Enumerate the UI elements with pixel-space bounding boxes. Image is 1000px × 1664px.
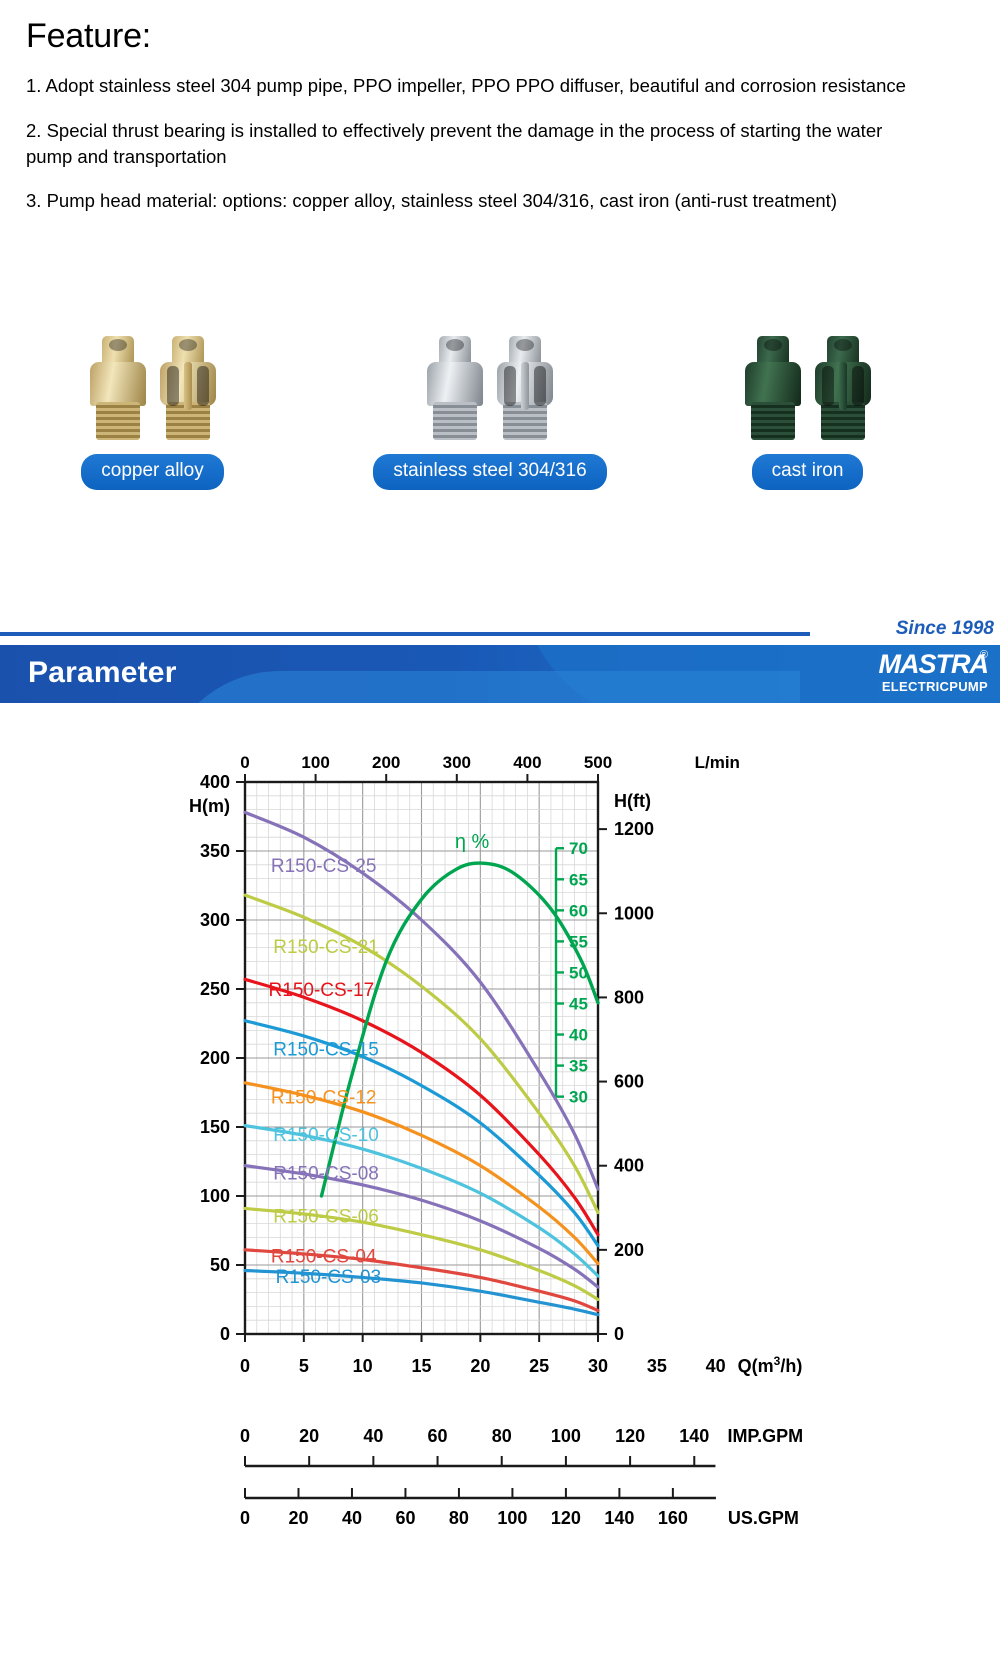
tick-label-imp-gpm: 120 — [615, 1426, 645, 1446]
since-divider: Since 1998 — [0, 618, 1000, 640]
page-root: Feature: 1. Adopt stainless steel 304 pu… — [0, 0, 1000, 1664]
tick-label-us-gpm: 120 — [551, 1508, 581, 1528]
copper-alloy-images — [45, 330, 260, 440]
axis-label-lmin: L/min — [695, 753, 740, 772]
chart-svg: 0100200300400500L/min0501001502002503003… — [0, 712, 1000, 1662]
efficiency-axis: 303540455055606570 — [556, 839, 588, 1106]
tick-label-q: 0 — [240, 1356, 250, 1376]
divider-line — [0, 632, 810, 636]
tick-label-imp-gpm: 40 — [363, 1426, 383, 1446]
tick-label-us-gpm: 140 — [604, 1508, 634, 1528]
tick-label-efficiency: 30 — [569, 1088, 588, 1107]
cast-iron-images — [700, 330, 915, 440]
axis-label-head-m: H(m) — [189, 796, 230, 816]
tick-label-head-m: 350 — [200, 841, 230, 861]
material-gallery: copper alloy stainless steel 304/316 — [0, 330, 1000, 520]
tick-label-head-m: 200 — [200, 1048, 230, 1068]
feature-section: Feature: 1. Adopt stainless steel 304 pu… — [0, 0, 1000, 214]
section-title-parameter: Parameter — [28, 656, 177, 690]
tick-label-head-m: 100 — [200, 1186, 230, 1206]
tick-label-head-ft: 800 — [614, 987, 644, 1007]
registered-trademark-icon: ® — [980, 649, 988, 661]
tick-label-efficiency: 40 — [569, 1026, 588, 1045]
tick-label-lmin: 500 — [584, 753, 612, 772]
pump-head-image-steel-solid — [427, 336, 483, 440]
tick-label-head-ft: 1200 — [614, 819, 654, 839]
parameter-header-band: Parameter ® MASTRA ELECTRICPUMP — [0, 645, 1000, 703]
series-label-r150-cs-12: R150-CS-12 — [271, 1088, 377, 1109]
feature-item-2: 2. Special thrust bearing is installed t… — [26, 118, 931, 171]
stainless-steel-images — [345, 330, 635, 440]
tick-label-us-gpm: 60 — [395, 1508, 415, 1528]
axis-label-us-gpm: US.GPM — [728, 1508, 799, 1528]
page-title: Feature: — [26, 18, 974, 55]
tick-label-q: 25 — [529, 1356, 549, 1376]
tick-label-q: 20 — [470, 1356, 490, 1376]
feature-item-1: 1. Adopt stainless steel 304 pump pipe, … — [26, 73, 931, 99]
tick-label-imp-gpm: 20 — [299, 1426, 319, 1446]
tick-label-head-m: 50 — [210, 1255, 230, 1275]
series-label-r150-cs-21: R150-CS-21 — [273, 937, 379, 958]
superscript-3: 3 — [774, 1354, 781, 1368]
tick-label-imp-gpm: 100 — [551, 1426, 581, 1446]
tick-label-us-gpm: 80 — [449, 1508, 469, 1528]
tick-label-q: 35 — [647, 1356, 667, 1376]
efficiency-curve-label: η % — [455, 831, 490, 853]
since-label: Since 1998 — [896, 618, 994, 640]
series-label-r150-cs-15: R150-CS-15 — [273, 1039, 379, 1060]
material-group-cast-iron: cast iron — [700, 330, 915, 490]
tick-label-head-m: 400 — [200, 772, 230, 792]
pump-head-image-brass-cage — [160, 336, 216, 440]
axis-label-head-ft: H(ft) — [614, 791, 651, 811]
tick-label-lmin: 100 — [301, 753, 329, 772]
pump-head-image-brass-solid — [90, 336, 146, 440]
series-label-r150-cs-04: R150-CS-04 — [271, 1246, 377, 1267]
logo-tagline: ELECTRICPUMP — [788, 680, 988, 693]
pump-head-image-iron-cage — [815, 336, 871, 440]
tick-label-us-gpm: 100 — [497, 1508, 527, 1528]
tick-label-q: 15 — [411, 1356, 431, 1376]
tick-label-lmin: 300 — [443, 753, 471, 772]
tick-label-q: 40 — [706, 1356, 726, 1376]
tick-label-head-m: 0 — [220, 1324, 230, 1344]
tick-label-q: 10 — [353, 1356, 373, 1376]
tick-label-imp-gpm: 60 — [428, 1426, 448, 1446]
tick-label-q: 5 — [299, 1356, 309, 1376]
tick-label-lmin: 200 — [372, 753, 400, 772]
tick-label-efficiency: 65 — [569, 870, 588, 889]
tick-label-lmin: 400 — [513, 753, 541, 772]
series-label-r150-cs-17: R150-CS-17 — [269, 980, 375, 1001]
material-group-stainless-steel: stainless steel 304/316 — [345, 330, 635, 490]
tick-label-lmin: 0 — [240, 753, 249, 772]
tick-label-head-m: 150 — [200, 1117, 230, 1137]
series-label-r150-cs-08: R150-CS-08 — [273, 1164, 379, 1185]
tick-label-head-ft: 600 — [614, 1072, 644, 1092]
tick-label-imp-gpm: 0 — [240, 1426, 250, 1446]
feature-item-3: 3. Pump head material: options: copper a… — [26, 188, 931, 214]
pump-head-image-iron-solid — [745, 336, 801, 440]
tick-label-efficiency: 35 — [569, 1057, 588, 1076]
series-label-r150-cs-06: R150-CS-06 — [273, 1206, 379, 1227]
band-wave-decoration-2 — [160, 671, 800, 703]
tick-label-head-m: 300 — [200, 910, 230, 930]
series-label-r150-cs-25: R150-CS-25 — [271, 856, 377, 877]
tick-label-imp-gpm: 80 — [492, 1426, 512, 1446]
axis-label-q: Q(m3/h) — [738, 1354, 803, 1376]
tick-label-q: 30 — [588, 1356, 608, 1376]
pump-head-image-steel-cage — [497, 336, 553, 440]
tick-label-us-gpm: 40 — [342, 1508, 362, 1528]
tick-label-head-ft: 1000 — [614, 903, 654, 923]
material-label-copper-alloy: copper alloy — [81, 454, 223, 490]
material-label-stainless-steel: stainless steel 304/316 — [373, 454, 606, 490]
tick-label-head-ft: 400 — [614, 1156, 644, 1176]
tick-label-efficiency: 45 — [569, 994, 588, 1013]
material-label-cast-iron: cast iron — [752, 454, 864, 490]
tick-label-us-gpm: 20 — [288, 1508, 308, 1528]
tick-label-head-m: 250 — [200, 979, 230, 999]
tick-label-efficiency: 60 — [569, 901, 588, 920]
brand-logo: ® MASTRA ELECTRICPUMP — [788, 651, 988, 697]
tick-label-us-gpm: 160 — [658, 1508, 688, 1528]
pump-performance-chart: 0100200300400500L/min0501001502002503003… — [0, 712, 1000, 1662]
series-label-r150-cs-10: R150-CS-10 — [273, 1125, 379, 1146]
material-group-copper-alloy: copper alloy — [45, 330, 260, 490]
logo-wordmark: MASTRA — [788, 651, 988, 678]
tick-label-head-ft: 200 — [614, 1240, 644, 1260]
tick-label-efficiency: 70 — [569, 839, 588, 858]
tick-label-head-ft: 0 — [614, 1324, 624, 1344]
tick-label-us-gpm: 0 — [240, 1508, 250, 1528]
axis-label-imp-gpm: IMP.GPM — [727, 1426, 803, 1446]
tick-label-imp-gpm: 140 — [679, 1426, 709, 1446]
series-label-r150-cs-03: R150-CS-03 — [276, 1267, 382, 1288]
